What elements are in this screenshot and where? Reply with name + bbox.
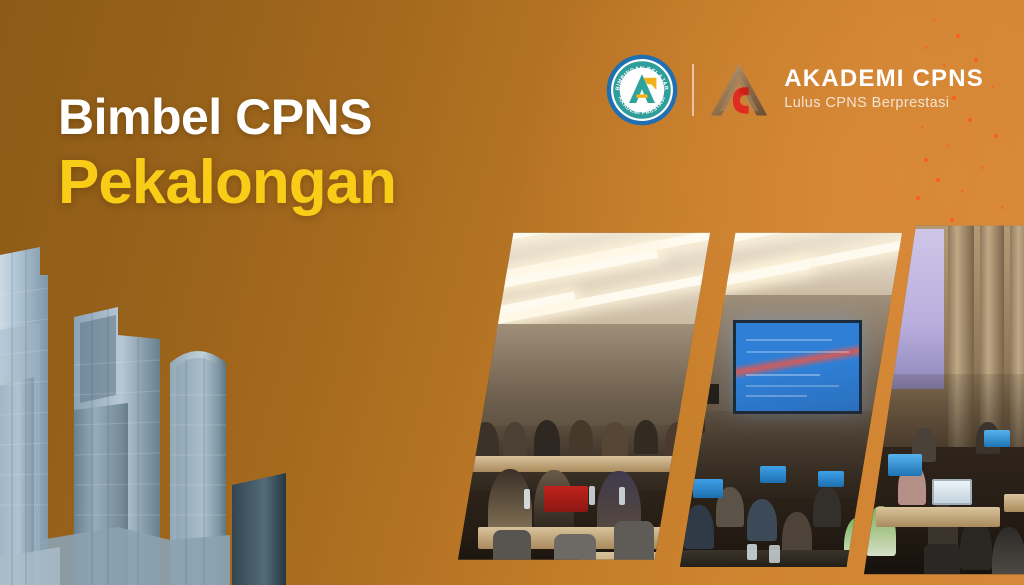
logo-divider bbox=[692, 64, 694, 116]
brand-tagline: Lulus CPNS Berprestasi bbox=[784, 94, 984, 114]
headline-line-1: Bimbel CPNS bbox=[58, 92, 396, 143]
akademi-prestasi-seal-icon: BIMBINGAN BELAJAR AKADEMI PRESTASI bbox=[606, 54, 678, 126]
headline: Bimbel CPNS Pekalongan bbox=[58, 92, 396, 214]
classroom-front-row-photo bbox=[458, 222, 710, 585]
brand-text: AKADEMI CPNS Lulus CPNS Berprestasi bbox=[784, 66, 984, 114]
city-skyline-image bbox=[0, 235, 300, 585]
akademi-cpns-triangle-icon bbox=[708, 61, 770, 119]
headline-line-2: Pekalongan bbox=[58, 151, 396, 214]
logo-lockup: BIMBINGAN BELAJAR AKADEMI PRESTASI bbox=[606, 54, 984, 126]
projector-presentation-photo bbox=[680, 222, 902, 585]
promo-banner: Bimbel CPNS Pekalongan BIMBINGAN BELA bbox=[0, 0, 1024, 585]
brand-name: AKADEMI CPNS bbox=[784, 66, 984, 92]
photo-collage bbox=[440, 222, 1024, 585]
